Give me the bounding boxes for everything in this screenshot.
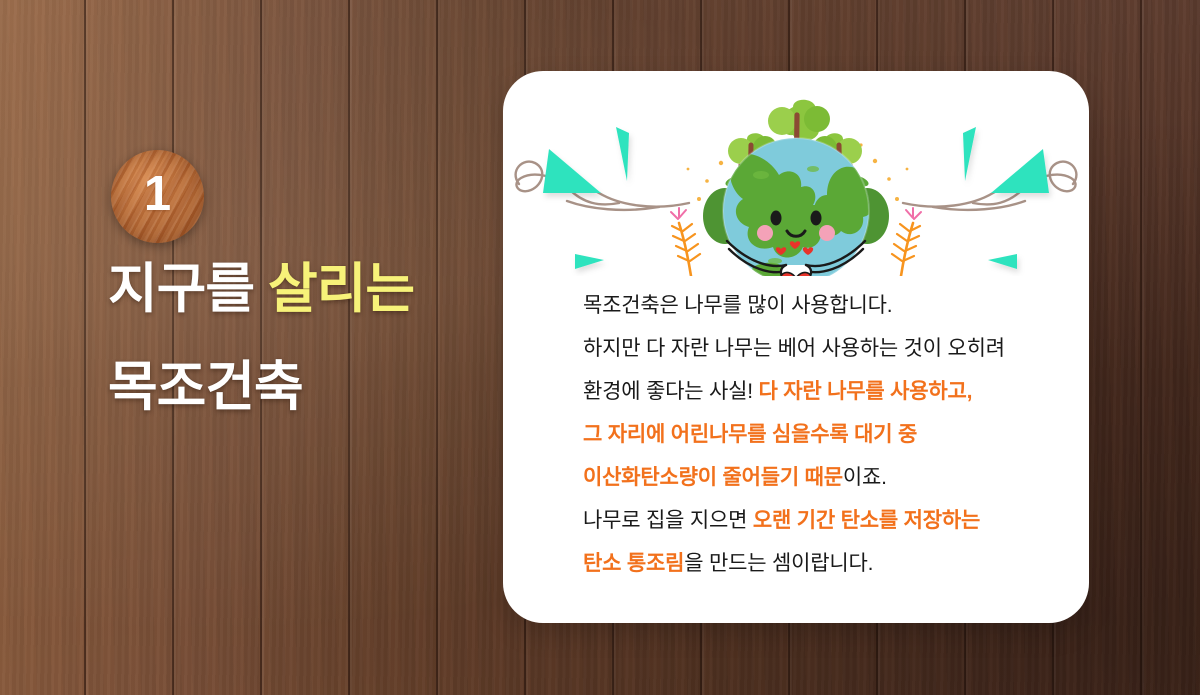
teal-triangle-large-right [991,149,1049,193]
body-plain-segment-3-1: 환경에 좋다는 사실! [583,380,759,403]
body-text-line-7: 탄소 통조림을 만드는 셈이랍니다. [583,542,1067,585]
page-title-line-1-plain: 지구를 [108,259,268,319]
teal-triangle-group-left [543,127,629,269]
body-emphasis-segment-6-2: 오랜 기간 탄소를 저장하는 [753,509,980,532]
teal-triangle-group-right [963,127,1049,269]
left-title-column: 1 지구를 살리는 목조건축 [0,0,500,695]
botanical-sprig-right [892,208,921,276]
swirl-flourish-left [516,162,689,210]
page-title-line-1-highlight: 살리는 [268,259,414,319]
body-text-line-5: 이산화탄소량이 줄어들기 때문이죠. [583,456,1067,499]
body-plain-segment-2-1: 하지만 다 자란 나무는 베어 사용하는 것이 오히려 [583,337,1005,360]
page-title-line-2: 목조건축 [108,360,508,414]
swirl-flourish-right [903,162,1076,210]
body-emphasis-segment-4-1: 그 자리에 어린나무를 심을수록 대기 중 [583,423,917,446]
body-plain-segment-7-2: 을 만드는 셈이랍니다. [684,552,873,575]
body-plain-segment-5-2: 이죠. [843,466,887,489]
blush-right [819,225,835,241]
body-text-line-1: 목조건축은 나무를 많이 사용합니다. [583,284,1067,327]
page-title: 지구를 살리는 목조건축 [108,262,508,414]
teal-triangle-small-right [963,127,976,181]
teal-triangle-small-left [616,127,629,181]
earth-with-trees-illustration [503,71,1089,276]
eye-right [811,211,822,226]
teal-triangle-tiny-right [988,254,1017,269]
body-emphasis-segment-7-1: 탄소 통조림 [583,552,684,575]
body-emphasis-segment-5-1: 이산화탄소량이 줄어들기 때문 [583,466,843,489]
body-emphasis-segment-3-2: 다 자란 나무를 사용하고, [759,380,973,403]
card-body-text: 목조건축은 나무를 많이 사용합니다.하지만 다 자란 나무는 베어 사용하는 … [583,284,1067,585]
step-number-label: 1 [144,170,171,219]
body-plain-segment-1-1: 목조건축은 나무를 많이 사용합니다. [583,294,892,317]
body-plain-segment-6-1: 나무로 집을 지으면 [583,509,753,532]
teal-triangle-large-left [543,149,601,193]
body-text-line-6: 나무로 집을 지으면 오랜 기간 탄소를 저장하는 [583,499,1067,542]
eye-left [771,211,782,226]
botanical-sprig-left [671,208,700,276]
step-number-badge: 1 [111,150,204,243]
body-text-line-3: 환경에 좋다는 사실! 다 자란 나무를 사용하고, [583,370,1067,413]
body-text-line-4: 그 자리에 어린나무를 심을수록 대기 중 [583,413,1067,456]
page-title-line-1: 지구를 살리는 [108,262,508,316]
body-text-line-2: 하지만 다 자란 나무는 베어 사용하는 것이 오히려 [583,327,1067,370]
teal-triangle-tiny-left [575,254,604,269]
blush-left [757,225,773,241]
info-card: 목조건축은 나무를 많이 사용합니다.하지만 다 자란 나무는 베어 사용하는 … [503,71,1089,623]
